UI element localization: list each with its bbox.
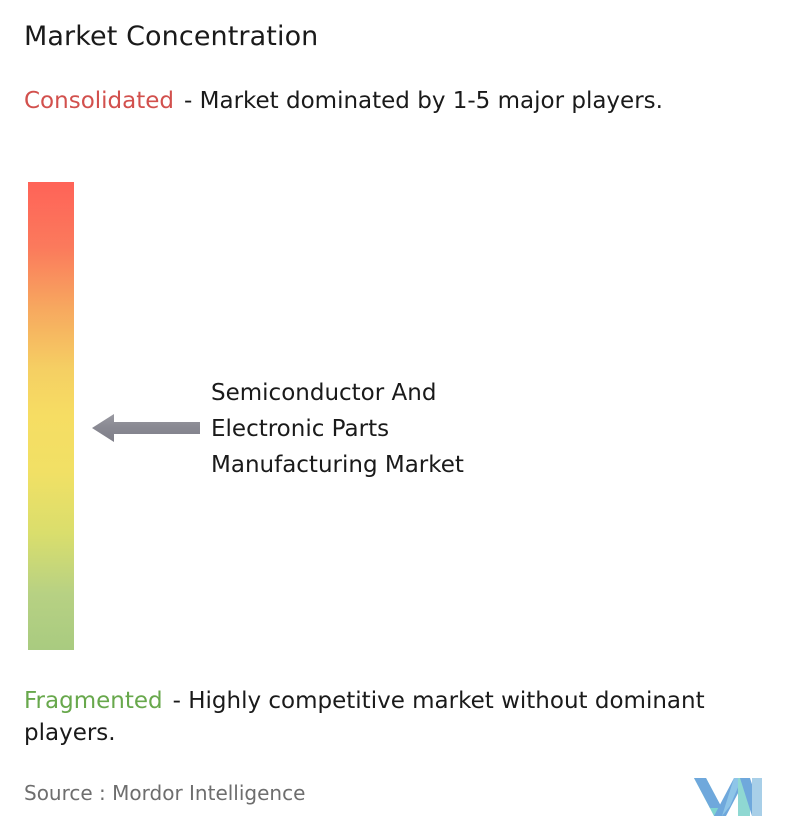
marker-label-line-3: Manufacturing Market: [211, 447, 631, 483]
source-value: Mordor Intelligence: [112, 781, 305, 805]
source-label: Source :: [24, 781, 106, 805]
market-concentration-infographic: Market Concentration Consolidated- Marke…: [0, 0, 796, 834]
marker-label-line-1: Semiconductor And: [211, 375, 631, 411]
marker-label-line-2: Electronic Parts: [211, 411, 631, 447]
concentration-gradient-bar: [28, 182, 74, 650]
legend-fragmented: Fragmented- Highly competitive market wi…: [24, 685, 792, 749]
mordor-intelligence-logo: [692, 772, 764, 820]
legend-term-fragmented: Fragmented: [24, 688, 163, 714]
legend-description-consolidated: - Market dominated by 1-5 major players.: [184, 88, 663, 114]
source-attribution: Source : Mordor Intelligence: [24, 780, 305, 806]
marker-label: Semiconductor And Electronic Parts Manuf…: [211, 375, 631, 483]
legend-term-consolidated: Consolidated: [24, 88, 174, 114]
arrow-left-icon: [92, 411, 200, 445]
page-title: Market Concentration: [24, 20, 318, 54]
legend-consolidated: Consolidated- Market dominated by 1-5 ma…: [24, 85, 774, 117]
